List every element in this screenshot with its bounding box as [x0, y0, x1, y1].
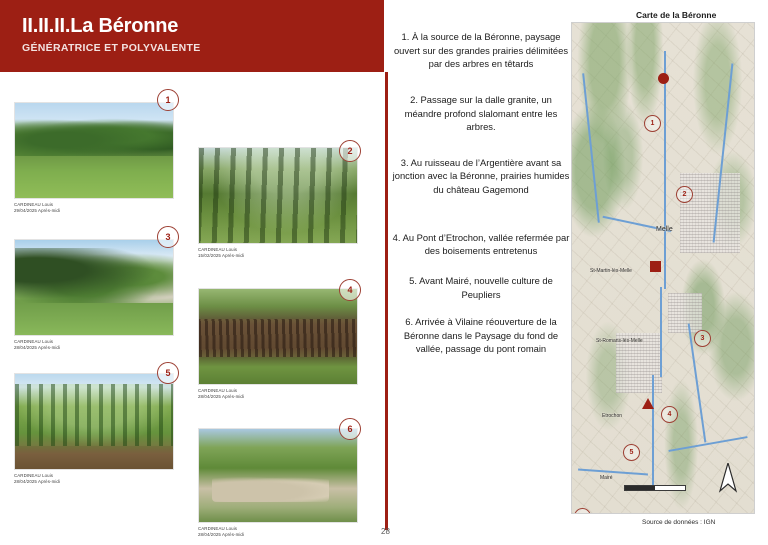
- photo-card-3[interactable]: CARDINEAU Louis 28/04/2025 Après-midi: [14, 239, 174, 352]
- map-source-label: Source de données : IGN: [642, 519, 715, 526]
- map-marker-4[interactable]: 4: [661, 406, 678, 423]
- photo-card-6[interactable]: CARDINEAU Louis 28/04/2025 Après-midi: [198, 428, 358, 539]
- photo-card-5[interactable]: CARDINEAU Louis 28/04/2025 Après-midi: [14, 373, 174, 486]
- note-item-3: 3. Au ruisseau de l’Argentière avant sa …: [392, 156, 570, 197]
- map-marker-5[interactable]: 5: [623, 444, 640, 461]
- photo-author-6: CARDINEAU Louis: [198, 526, 237, 531]
- map-title: Carte de la Béronne: [636, 10, 716, 20]
- photo-caption-4: CARDINEAU Louis 28/04/2025 Après-midi: [198, 388, 358, 402]
- photo-date-6: 28/04/2025 Après-midi: [198, 532, 358, 539]
- note-text-3: Au ruisseau de l’Argentière avant sa jon…: [393, 157, 570, 195]
- map-label-etrochon: Etrochon: [602, 413, 622, 419]
- note-item-5: 5. Avant Mairé, nouvelle culture de Peup…: [392, 274, 570, 301]
- photo-marker-4[interactable]: 4: [339, 279, 361, 301]
- photo-marker-6[interactable]: 6: [339, 418, 361, 440]
- map-red-dot-source: [658, 73, 669, 84]
- map-scale-bar: [624, 485, 686, 491]
- page-subtitle: GÉNÉRATRICE ET POLYVALENTE: [22, 42, 384, 54]
- note-number-4: 4.: [393, 232, 401, 243]
- map-river-beronne-upper: [664, 51, 666, 171]
- map-river-beronne-lower: [660, 287, 662, 377]
- note-number-6: 6.: [405, 316, 413, 327]
- note-text-2: Passage sur la dalle granite, un méandre…: [405, 94, 558, 132]
- photo-author-4: CARDINEAU Louis: [198, 388, 237, 393]
- map-label-st-martin-les-melle: St-Martin-lès-Melle: [590, 268, 632, 274]
- photo-image-2: [198, 147, 358, 244]
- map-panel[interactable]: 1 2 3 4 5 6 Melle St-Martin-lès-Melle St…: [571, 22, 755, 514]
- photo-marker-1[interactable]: 1: [157, 89, 179, 111]
- note-text-5: Avant Mairé, nouvelle culture de Peuplie…: [419, 275, 553, 300]
- map-marker-1[interactable]: 1: [644, 115, 661, 132]
- photo-date-3: 28/04/2025 Après-midi: [14, 345, 174, 352]
- map-label-st-romans-les-melle: St-Romans-lès-Melle: [596, 338, 643, 344]
- note-number-5: 5.: [409, 275, 417, 286]
- map-marker-2[interactable]: 2: [676, 186, 693, 203]
- photo-marker-5[interactable]: 5: [157, 362, 179, 384]
- map-urban-area-south: [668, 293, 702, 333]
- photo-card-1[interactable]: CARDINEAU Louis 29/04/2025 Après-midi: [14, 102, 174, 215]
- note-item-4: 4. Au Pont d’Etrochon, vallée refermée p…: [392, 231, 570, 258]
- map-marker-3[interactable]: 3: [694, 330, 711, 347]
- photo-marker-3[interactable]: 3: [157, 226, 179, 248]
- note-item-6: 6. Arrivée à Vilaine réouverture de la B…: [392, 315, 570, 356]
- photo-author-1: CARDINEAU Louis: [14, 202, 53, 207]
- photo-image-4: [198, 288, 358, 385]
- photo-card-4[interactable]: CARDINEAU Louis 28/04/2025 Après-midi: [198, 288, 358, 401]
- note-number-3: 3.: [401, 157, 409, 168]
- photo-image-6: [198, 428, 358, 523]
- slide-page: II.II.II.La Béronne GÉNÉRATRICE ET POLYV…: [0, 0, 768, 545]
- photo-author-2: CARDINEAU Louis: [198, 247, 237, 252]
- note-item-2: 2. Passage sur la dalle granite, un méan…: [392, 93, 570, 134]
- map-urban-area-melle: [680, 173, 740, 253]
- map-red-square-site: [650, 261, 661, 272]
- photo-image-3: [14, 239, 174, 336]
- note-number-1: 1.: [402, 31, 410, 42]
- note-text-4: Au Pont d’Etrochon, vallée refermée par …: [403, 232, 570, 257]
- photo-author-5: CARDINEAU Louis: [14, 473, 53, 478]
- photo-card-2[interactable]: CARDINEAU Louis 15/02/2025 Après-midi: [198, 147, 358, 260]
- map-red-triangle-site: [642, 398, 654, 409]
- photo-image-1: [14, 102, 174, 199]
- photo-image-5: [14, 373, 174, 470]
- photo-caption-6: CARDINEAU Louis 28/04/2025 Après-midi: [198, 526, 358, 540]
- page-title: II.II.II.La Béronne: [22, 16, 384, 37]
- photo-caption-5: CARDINEAU Louis 28/04/2025 Après-midi: [14, 473, 174, 487]
- page-number: 28: [381, 527, 390, 536]
- photo-author-3: CARDINEAU Louis: [14, 339, 53, 344]
- note-number-2: 2.: [410, 94, 418, 105]
- photo-caption-3: CARDINEAU Louis 28/04/2025 Après-midi: [14, 339, 174, 353]
- photo-date-5: 28/04/2025 Après-midi: [14, 479, 174, 486]
- header-banner: II.II.II.La Béronne GÉNÉRATRICE ET POLYV…: [0, 0, 384, 72]
- north-arrow-icon: [718, 463, 738, 493]
- photo-caption-1: CARDINEAU Louis 29/04/2025 Après-midi: [14, 202, 174, 216]
- map-label-maire: Mairé: [600, 475, 613, 481]
- photo-date-2: 15/02/2025 Après-midi: [198, 253, 358, 260]
- photo-date-1: 29/04/2025 Après-midi: [14, 208, 174, 215]
- note-text-6: Arrivée à Vilaine réouverture de la Béro…: [404, 316, 558, 354]
- map-river-beronne-bottom: [652, 375, 654, 485]
- photo-caption-2: CARDINEAU Louis 15/02/2025 Après-midi: [198, 247, 358, 261]
- note-item-1: 1. À la source de la Béronne, paysage ou…: [392, 30, 570, 71]
- photo-date-4: 28/04/2025 Après-midi: [198, 394, 358, 401]
- vertical-divider: [385, 72, 388, 530]
- notes-list: 1. À la source de la Béronne, paysage ou…: [392, 30, 570, 378]
- note-text-1: À la source de la Béronne, paysage ouver…: [394, 31, 568, 69]
- photo-marker-2[interactable]: 2: [339, 140, 361, 162]
- map-label-melle: Melle: [656, 226, 673, 233]
